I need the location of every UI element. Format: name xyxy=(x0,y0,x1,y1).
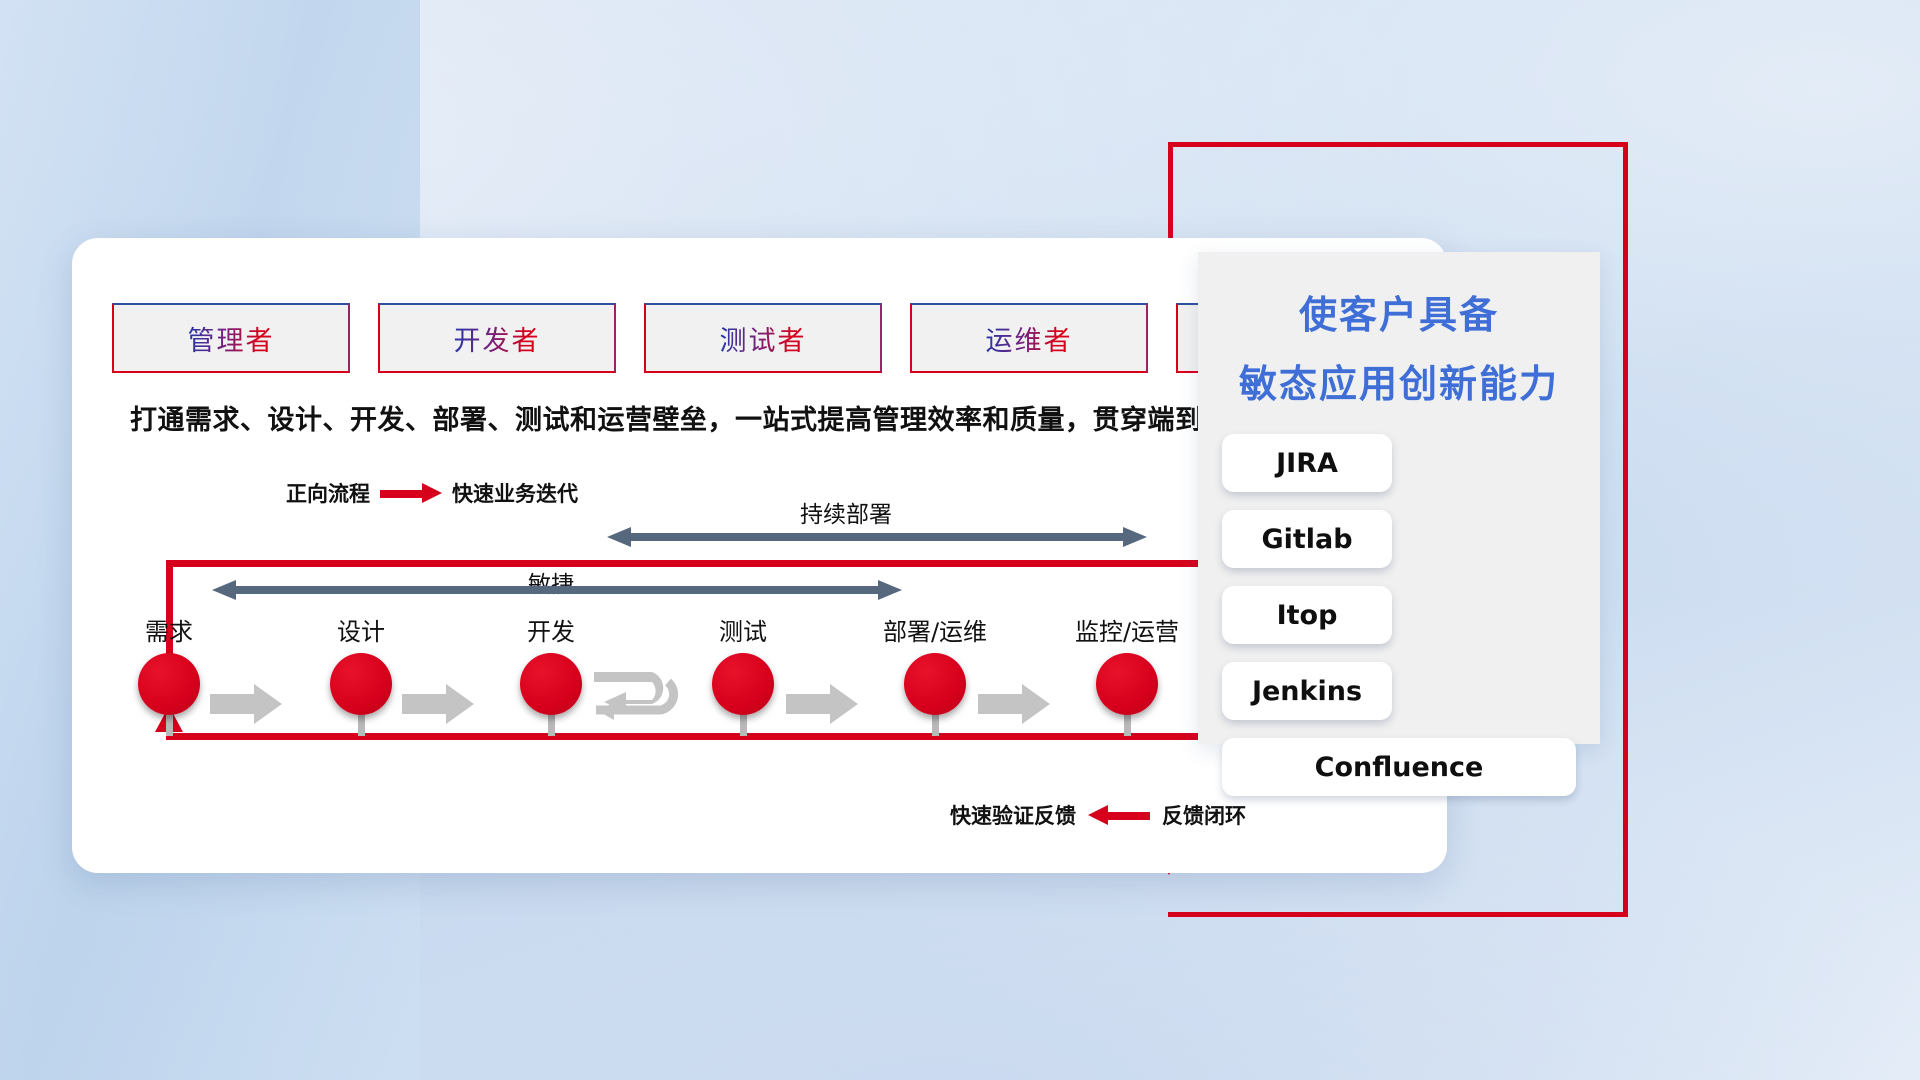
node-dot-icon xyxy=(712,653,774,715)
feedback-loop-top xyxy=(166,560,1351,567)
node-label: 部署/运维 xyxy=(875,612,995,647)
role-label: 测试者 xyxy=(720,319,807,358)
node-label: 开发 xyxy=(491,612,611,647)
connector-frame-bottom xyxy=(1168,912,1628,917)
role-box-manager[interactable]: 管理者 xyxy=(112,303,350,373)
legend-feedback-target-label: 快速验证反馈 xyxy=(950,800,1076,830)
tool-chip-jira[interactable]: JIRA xyxy=(1222,434,1392,492)
node-label: 设计 xyxy=(301,612,421,647)
chevron-right-icon xyxy=(402,684,474,724)
legend-feedback-loop: 快速验证反馈 反馈闭环 xyxy=(950,800,1246,830)
legend-feedback-source-label: 反馈闭环 xyxy=(1162,800,1246,830)
arrow-right-red-icon xyxy=(380,486,442,500)
connector-frame-right xyxy=(1623,142,1628,917)
connector-frame-left-stub xyxy=(1168,142,1173,177)
span-arrow-continuous-deploy-icon xyxy=(607,527,1147,547)
tools-panel-title: 使客户具备 敏态应用创新能力 xyxy=(1198,284,1600,408)
legend-forward-source-label: 正向流程 xyxy=(286,478,370,508)
role-label: 运维者 xyxy=(986,319,1073,358)
slide-canvas: 管理者 开发者 测试者 运维者 运营者 打通需求、设计、开发、部署、测试和运营壁… xyxy=(0,0,1920,1080)
arrow-left-red-icon xyxy=(1088,808,1150,822)
chevron-right-icon xyxy=(210,684,282,724)
node-dot-icon xyxy=(330,653,392,715)
pipeline-node-deploy-ops[interactable]: 部署/运维 xyxy=(875,612,995,715)
legend-forward-flow: 正向流程 快速业务迭代 xyxy=(286,478,578,508)
node-dot-icon xyxy=(904,653,966,715)
role-box-developer[interactable]: 开发者 xyxy=(378,303,616,373)
role-box-ops[interactable]: 运维者 xyxy=(910,303,1148,373)
role-label: 管理者 xyxy=(188,319,275,358)
legend-forward-target-label: 快速业务迭代 xyxy=(452,478,578,508)
role-label: 开发者 xyxy=(454,319,541,358)
node-dot-icon xyxy=(520,653,582,715)
role-box-tester[interactable]: 测试者 xyxy=(644,303,882,373)
tool-chip-jenkins[interactable]: Jenkins xyxy=(1222,662,1392,720)
tool-chip-confluence[interactable]: Confluence xyxy=(1222,738,1576,796)
loop-back-icon xyxy=(590,670,690,730)
tool-chip-itop[interactable]: Itop xyxy=(1222,586,1392,644)
span-arrow-agile-icon xyxy=(212,580,902,600)
pipeline-node-test[interactable]: 测试 xyxy=(683,612,803,715)
node-label: 监控/运营 xyxy=(1067,612,1187,647)
node-label: 测试 xyxy=(683,612,803,647)
tool-chip-list: JIRA Gitlab Itop Jenkins Confluence xyxy=(1198,408,1600,796)
span-label-continuous-deploy: 持续部署 xyxy=(800,495,892,529)
tools-title-line2: 敏态应用创新能力 xyxy=(1198,353,1600,408)
pipeline-node-monitor-operate[interactable]: 监控/运营 xyxy=(1067,612,1187,715)
connector-frame-top xyxy=(1168,142,1628,147)
tools-panel: 使客户具备 敏态应用创新能力 JIRA Gitlab Itop Jenkins … xyxy=(1198,252,1600,744)
node-dot-icon xyxy=(138,653,200,715)
chevron-right-icon xyxy=(786,684,858,724)
tool-chip-gitlab[interactable]: Gitlab xyxy=(1222,510,1392,568)
chevron-right-icon xyxy=(978,684,1050,724)
node-label: 需求 xyxy=(109,612,229,647)
node-dot-icon xyxy=(1096,653,1158,715)
tools-title-line1: 使客户具备 xyxy=(1198,284,1600,339)
